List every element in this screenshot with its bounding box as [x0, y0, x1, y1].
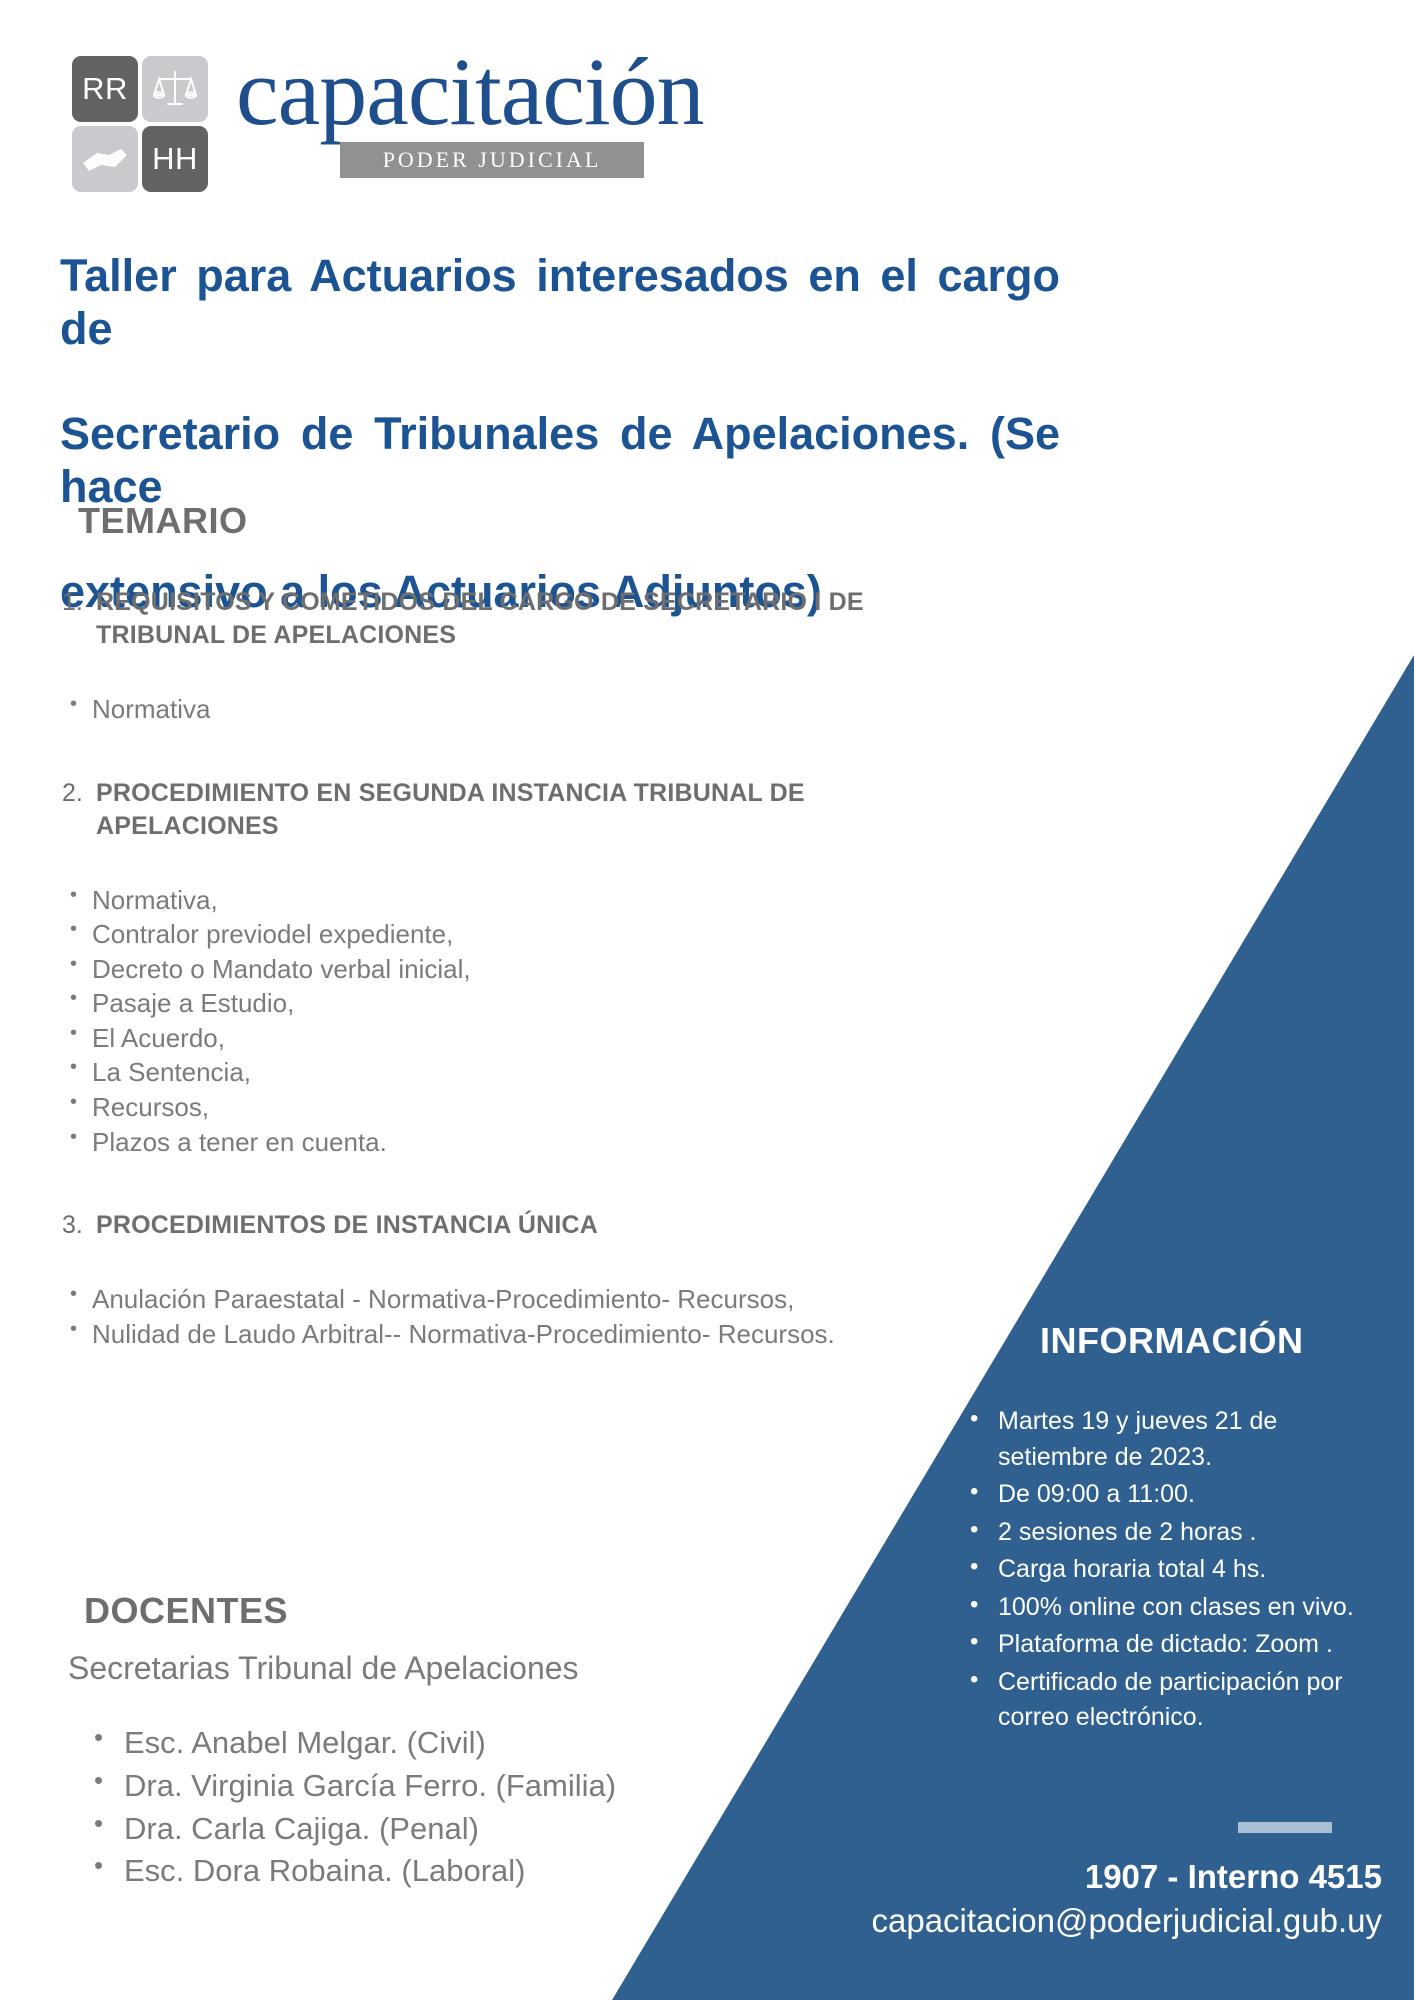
list-item: Dra. Virginia García Ferro. (Familia) [88, 1765, 616, 1808]
spacer [62, 652, 982, 692]
temario-item-3-bullets: Anulación Paraestatal - Normativa-Proced… [62, 1282, 982, 1351]
list-item: Contralor previodel expediente, [62, 917, 982, 952]
docentes-subtitle: Secretarias Tribunal de Apelaciones [68, 1650, 579, 1687]
poster-root: RR [0, 0, 1414, 2000]
hh-icon: HH [142, 126, 208, 192]
list-item: Martes 19 y jueves 21 de setiembre de 20… [962, 1404, 1382, 1475]
temario-item-1: 1. REQUISITOS Y COMETIDOS DEL CARGO DE S… [62, 586, 982, 652]
list-item: Normativa [62, 692, 982, 727]
page-title: Taller para Actuarios interesados en el … [60, 250, 1060, 618]
list-item: Carga horaria total 4 hs. [962, 1552, 1382, 1588]
handshake-icon [72, 126, 138, 192]
list-item: Decreto o Mandato verbal inicial, [62, 952, 982, 987]
title-line-2: Secretario de Tribunales de Apelaciones.… [60, 408, 1060, 566]
poder-judicial-bar: PODER JUDICIAL [340, 142, 644, 178]
list-item: Anulación Paraestatal - Normativa-Proced… [62, 1282, 982, 1317]
informacion-list: Martes 19 y jueves 21 de setiembre de 20… [962, 1404, 1382, 1738]
temario-item-3-number: 3. [62, 1209, 96, 1242]
informacion-heading: INFORMACIÓN [1040, 1320, 1303, 1362]
scales-icon [142, 56, 208, 122]
wordmark-block: capacitación PODER JUDICIAL [236, 48, 704, 178]
list-item: Nulidad de Laudo Arbitral-- Normativa-Pr… [62, 1317, 982, 1352]
list-item: Plataforma de dictado: Zoom . [962, 1627, 1382, 1663]
list-item: El Acuerdo, [62, 1021, 982, 1056]
temario-item-3-title: PROCEDIMIENTOS DE INSTANCIA ÚNICA [96, 1209, 598, 1242]
spacer [62, 843, 982, 883]
list-item: Dra. Carla Cajiga. (Penal) [88, 1808, 616, 1851]
contact-email[interactable]: capacitacion@poderjudicial.gub.uy [0, 1902, 1382, 1940]
spacer [62, 1242, 982, 1282]
poder-judicial-label: PODER JUDICIAL [383, 147, 602, 173]
temario-item-1-title: REQUISITOS Y COMETIDOS DEL CARGO DE SECR… [96, 586, 982, 652]
temario-item-2-number: 2. [62, 777, 96, 843]
footer-divider [1238, 1822, 1332, 1833]
list-item: Recursos, [62, 1090, 982, 1125]
list-item: 2 sesiones de 2 horas . [962, 1515, 1382, 1551]
logo-grid: RR [72, 56, 208, 192]
list-item: De 09:00 a 11:00. [962, 1477, 1382, 1513]
contact-phone: 1907 - Interno 4515 [0, 1858, 1382, 1896]
brand-wordmark: capacitación [236, 48, 704, 136]
docentes-heading: DOCENTES [84, 1590, 288, 1632]
temario-item-3: 3. PROCEDIMIENTOS DE INSTANCIA ÚNICA [62, 1209, 982, 1242]
list-item: Esc. Anabel Melgar. (Civil) [88, 1722, 616, 1765]
temario-item-1-number: 1. [62, 586, 96, 652]
hh-label: HH [152, 141, 198, 177]
rr-label: RR [82, 71, 128, 107]
temario-content: 1. REQUISITOS Y COMETIDOS DEL CARGO DE S… [62, 586, 982, 1351]
title-line-1: Taller para Actuarios interesados en el … [60, 250, 1060, 408]
list-item: Normativa, [62, 883, 982, 918]
list-item: Certificado de participación por correo … [962, 1665, 1382, 1736]
temario-heading: TEMARIO [78, 500, 248, 542]
list-item: 100% online con clases en vivo. [962, 1590, 1382, 1626]
temario-item-1-bullets: Normativa [62, 692, 982, 727]
list-item: La Sentencia, [62, 1055, 982, 1090]
temario-item-2: 2. PROCEDIMIENTO EN SEGUNDA INSTANCIA TR… [62, 777, 982, 843]
temario-item-2-title: PROCEDIMIENTO EN SEGUNDA INSTANCIA TRIBU… [96, 777, 982, 843]
spacer [62, 727, 982, 777]
list-item: Pasaje a Estudio, [62, 986, 982, 1021]
spacer [62, 1159, 982, 1209]
list-item: Plazos a tener en cuenta. [62, 1125, 982, 1160]
rr-icon: RR [72, 56, 138, 122]
header-logo-block: RR [72, 48, 704, 192]
temario-item-2-bullets: Normativa, Contralor previodel expedient… [62, 883, 982, 1160]
